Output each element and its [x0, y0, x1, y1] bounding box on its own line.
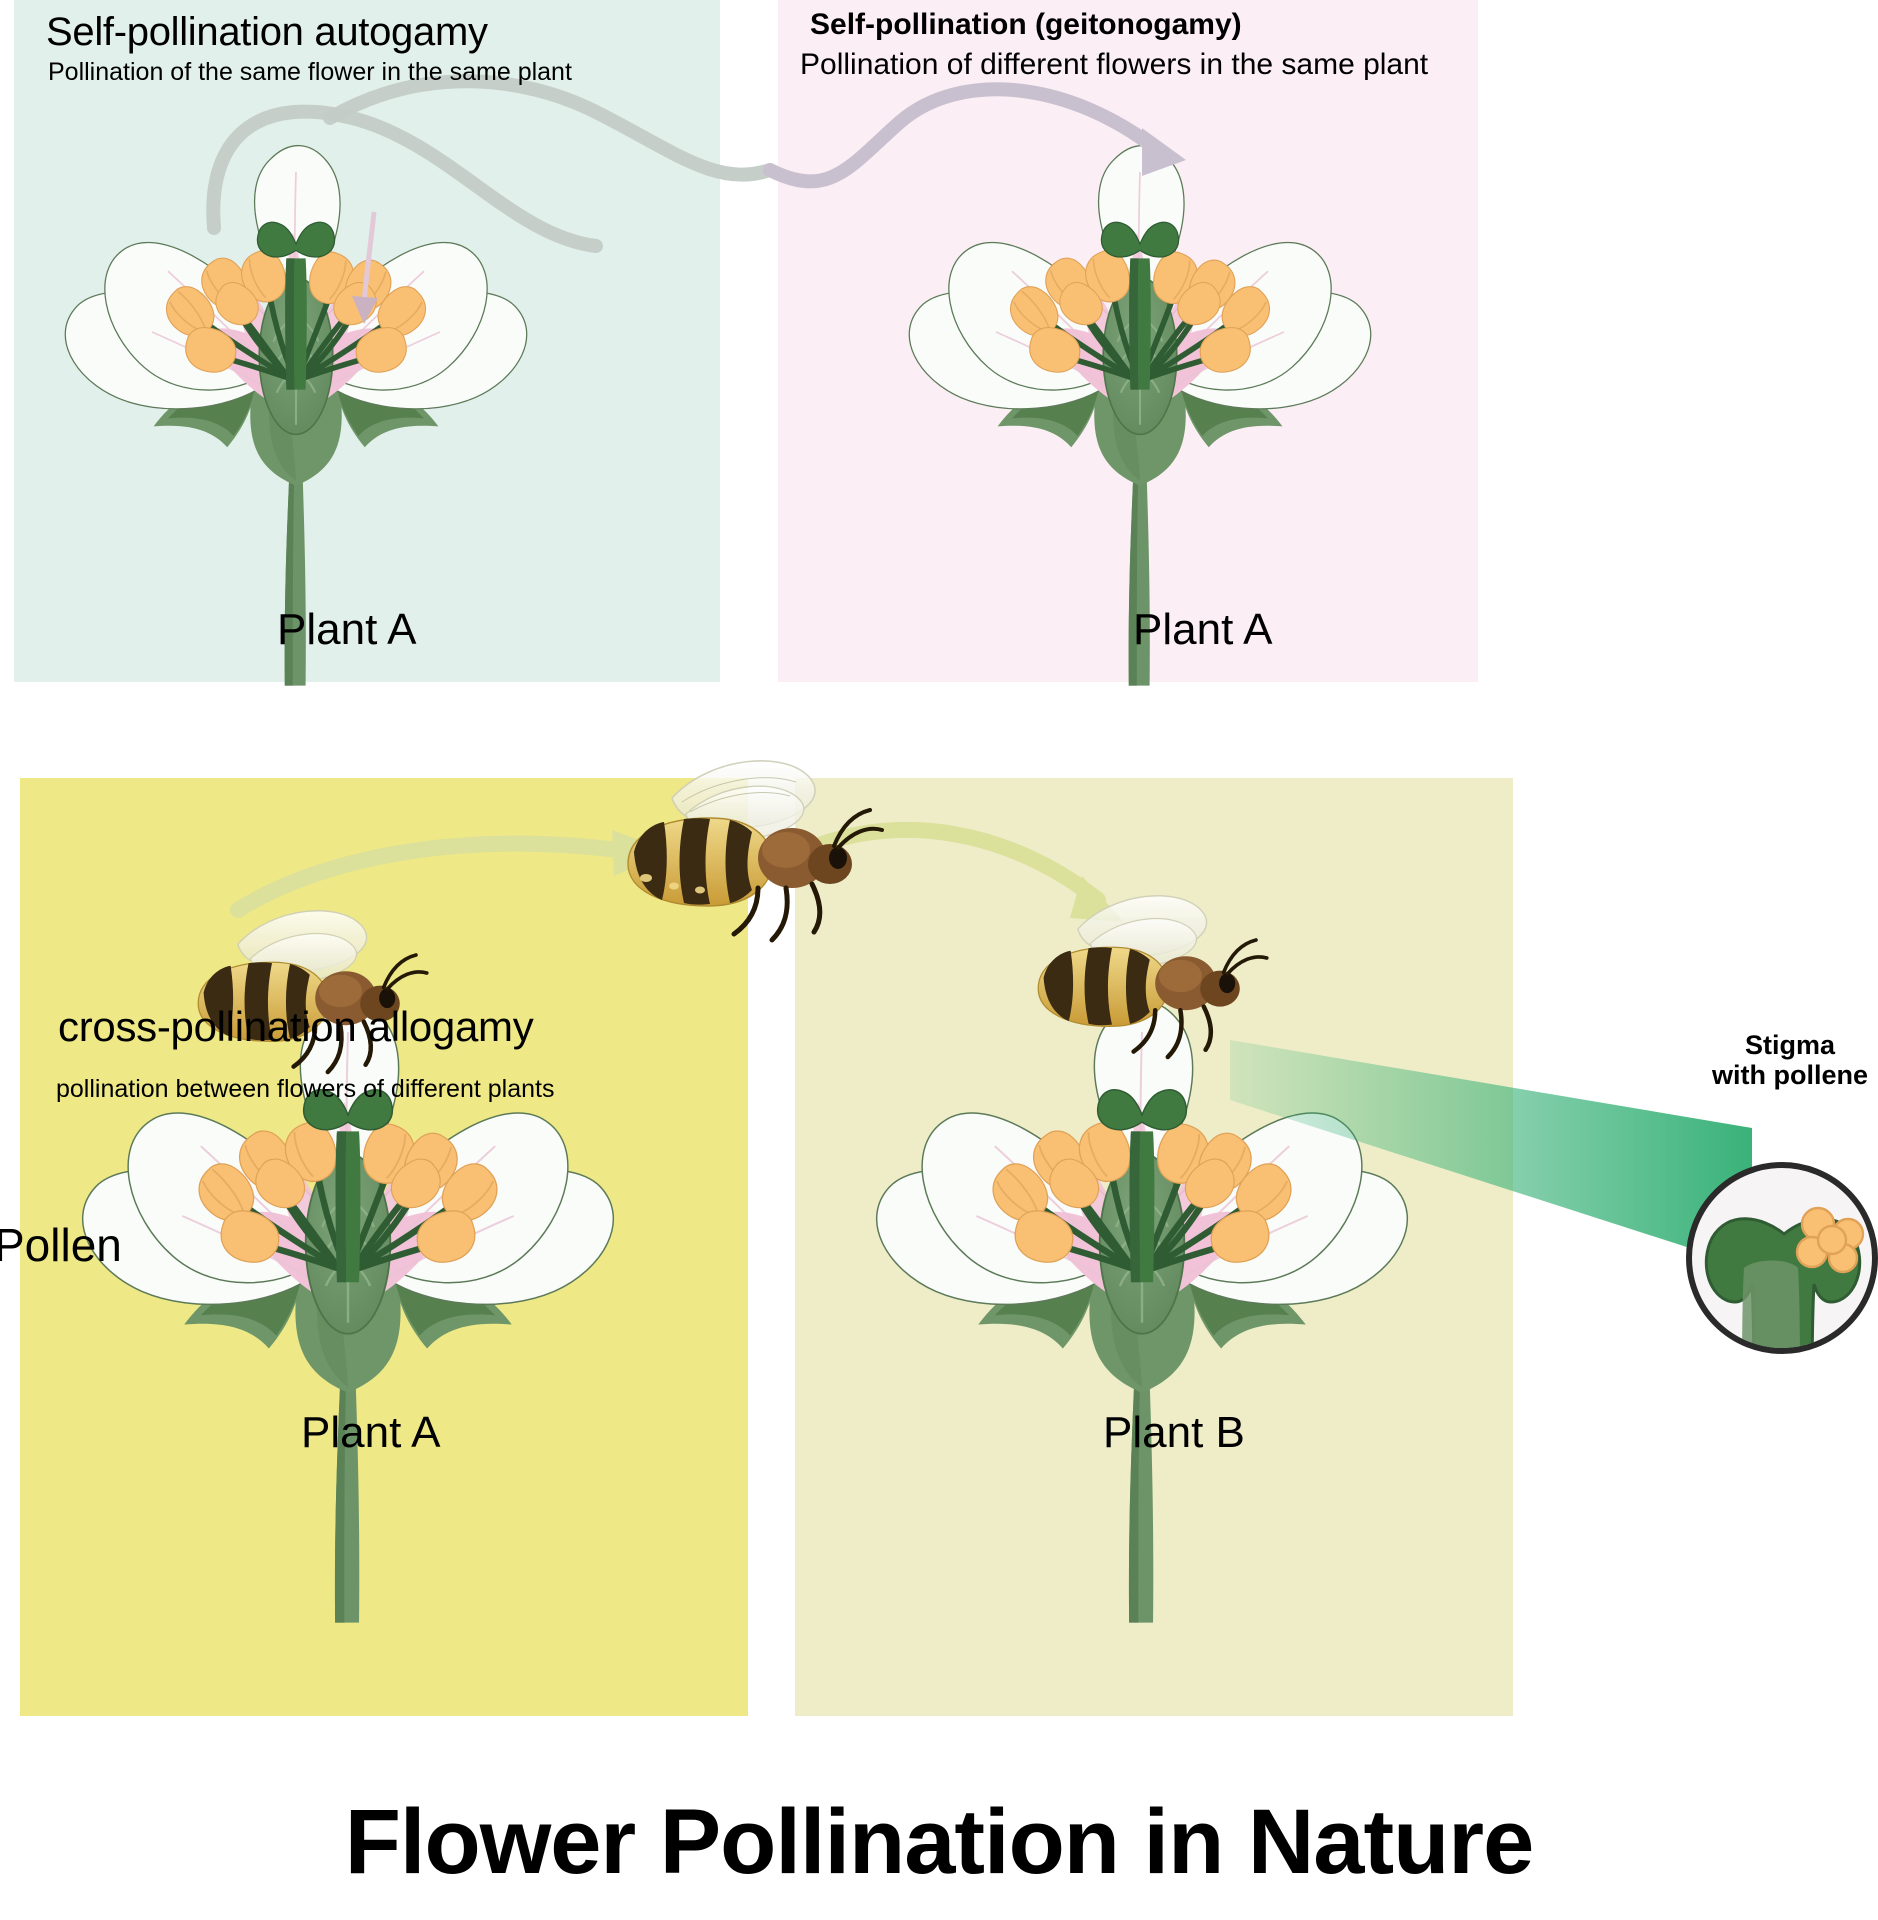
- panel-plant-b: [795, 778, 1513, 1716]
- plant-label-top-left: Plant A: [277, 605, 416, 655]
- panel-self-pollination-autogamy: [14, 0, 720, 682]
- stigma-label-line-1: Stigma: [1745, 1030, 1835, 1060]
- plant-label-bottom-left: Plant A: [301, 1408, 440, 1458]
- stigma-label-line-2: with pollene: [1712, 1060, 1868, 1090]
- panel-title-top-right: Self-pollination (geitonogamy): [810, 8, 1878, 42]
- panel-subtitle-top-right: Pollination of different flowers in the …: [800, 48, 1878, 82]
- stigma-label: Stigma with pollene: [1700, 1030, 1878, 1090]
- plant-label-bottom-right: Plant B: [1103, 1408, 1245, 1458]
- pollen-grain: [1797, 1208, 1863, 1272]
- panel-cross-pollination-allogamy: [20, 778, 748, 1716]
- main-title: Flower Pollination in Nature: [0, 1790, 1878, 1895]
- panel-self-pollination-geitonogamy: [778, 0, 1478, 682]
- magnifier-stigma-with-pollen: [1689, 1165, 1875, 1400]
- plant-label-top-right: Plant A: [1133, 605, 1272, 655]
- panel-title-bottom-left: cross-pollination allogamy: [58, 1003, 1878, 1051]
- pollen-label: Pollen: [0, 1218, 122, 1272]
- panel-subtitle-bottom-left: pollination between flowers of different…: [56, 1075, 1878, 1104]
